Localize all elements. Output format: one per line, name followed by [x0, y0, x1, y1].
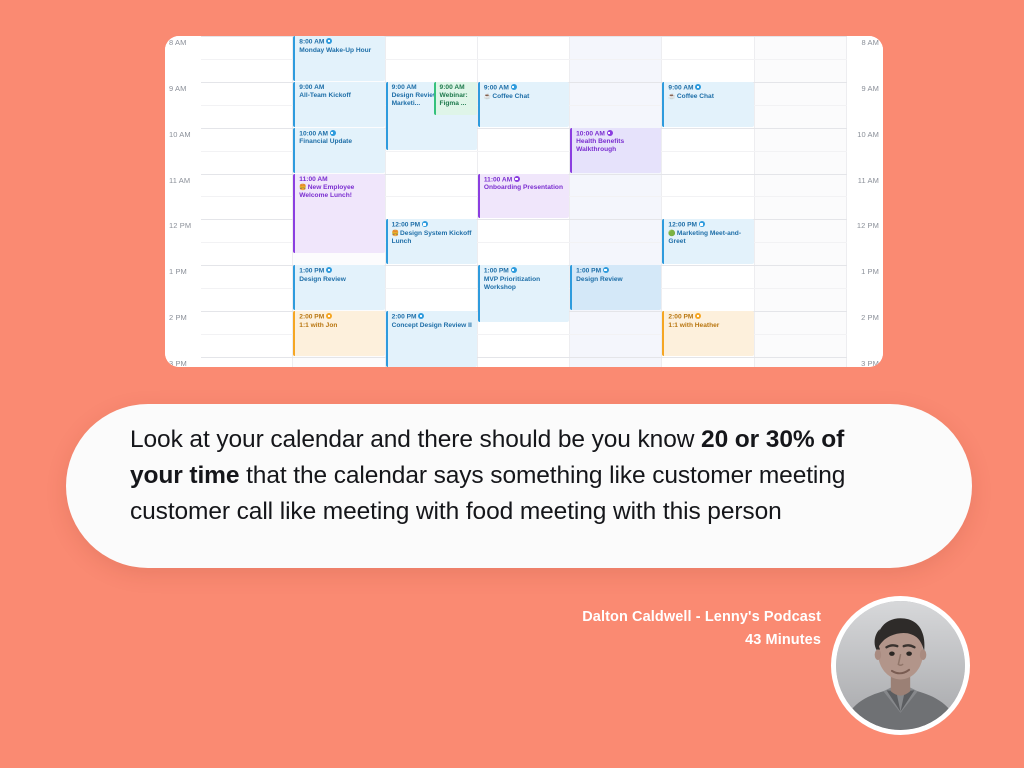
event-title: ☕Coffee Chat: [668, 93, 751, 101]
attribution: Dalton Caldwell - Lenny's Podcast 43 Min…: [481, 606, 821, 652]
event-time: 9:00 AM: [299, 84, 382, 92]
avatar: [831, 596, 970, 735]
time-gutter-right: 8 AM9 AM10 AM11 AM12 PM1 PM2 PM3 PM: [847, 36, 883, 367]
time-label-9-am-right: 9 AM: [862, 84, 880, 93]
video-call-icon: [695, 84, 701, 90]
video-call-icon: [514, 176, 520, 182]
time-label-1-pm-right: 1 PM: [861, 267, 879, 276]
event-time: 12:00 PM: [392, 221, 475, 229]
calendar-event[interactable]: 10:00 AMFinancial Update: [293, 128, 384, 173]
video-call-icon: [699, 221, 705, 227]
time-label-11-am-right: 11 AM: [858, 176, 879, 185]
video-call-icon: [326, 313, 332, 319]
event-title: Design Review: [299, 276, 382, 284]
time-label-12-pm-right: 12 PM: [857, 221, 879, 230]
video-call-icon: [511, 267, 517, 273]
event-time: 2:00 PM: [299, 313, 382, 321]
calendar-event[interactable]: 2:00 PM1:1 with Heather: [662, 311, 753, 356]
event-time: 12:00 PM: [668, 221, 751, 229]
video-call-icon: [418, 313, 424, 319]
quote-segment-0: Look at your calendar and there should b…: [130, 426, 701, 453]
time-label-8-am-left: 8 AM: [169, 38, 187, 47]
event-title: Design Review: [576, 276, 659, 284]
event-time: 1:00 PM: [576, 267, 659, 275]
event-emoji-icon: ☕: [484, 94, 491, 100]
calendar-event[interactable]: 1:00 PMDesign Review: [570, 265, 661, 310]
video-call-icon: [422, 221, 428, 227]
event-title: 🍔New Employee Welcome Lunch!: [299, 184, 382, 200]
portrait-illustration: [836, 601, 965, 730]
event-title: MVP Prioritization Workshop: [484, 276, 567, 292]
event-title: 🟢Marketing Meet-and-Greet: [668, 230, 751, 246]
event-title: Financial Update: [299, 138, 382, 146]
event-title: ☕Coffee Chat: [484, 93, 567, 101]
event-title: 🍔Design System Kickoff Lunch: [392, 230, 475, 246]
event-emoji-icon: ☕: [668, 94, 675, 100]
calendar-event[interactable]: 12:00 PM🟢Marketing Meet-and-Greet: [662, 219, 753, 264]
video-call-icon: [511, 84, 517, 90]
event-emoji-icon: 🍔: [392, 231, 399, 237]
calendar-event[interactable]: 8:00 AMMonday Wake-Up Hour: [293, 36, 384, 81]
calendar-event[interactable]: 9:00 AMAll-Team Kickoff: [293, 82, 384, 127]
event-title: Monday Wake-Up Hour: [299, 47, 382, 55]
event-time: 10:00 AM: [576, 130, 659, 138]
time-label-8-am-right: 8 AM: [862, 38, 880, 47]
event-time: 9:00 AM: [668, 84, 751, 92]
calendar-event[interactable]: 1:00 PMDesign Review: [293, 265, 384, 310]
event-title: Concept Design Review II: [392, 322, 475, 330]
video-call-icon: [326, 38, 332, 44]
calendar-event[interactable]: 9:00 AMWebinar: Figma ...: [434, 82, 477, 115]
quote-text: Look at your calendar and there should b…: [130, 422, 898, 530]
calendar-event[interactable]: 9:00 AM☕Coffee Chat: [478, 82, 569, 127]
calendar-event[interactable]: 11:00 AMOnboarding Presentation: [478, 174, 569, 219]
event-title: Onboarding Presentation: [484, 184, 567, 192]
video-call-icon: [607, 130, 613, 136]
speaker-name: Dalton Caldwell - Lenny's Podcast: [481, 606, 821, 629]
hour-gridline: [201, 357, 847, 358]
calendar-event[interactable]: 2:00 PMConcept Design Review II: [386, 311, 477, 367]
episode-duration: 43 Minutes: [481, 629, 821, 652]
event-emoji-icon: 🍔: [299, 185, 306, 191]
event-time: 1:00 PM: [484, 267, 567, 275]
calendar-day-column-1[interactable]: [201, 36, 293, 367]
event-time: 11:00 AM: [484, 176, 567, 184]
event-time: 2:00 PM: [392, 313, 475, 321]
time-label-10-am-left: 10 AM: [169, 130, 191, 139]
event-time: 9:00 AM: [440, 84, 475, 92]
time-label-3-pm-right: 3 PM: [861, 359, 879, 367]
event-title: 1:1 with Jon: [299, 322, 382, 330]
time-gutter-left: 8 AM9 AM10 AM11 AM12 PM1 PM2 PM3 PM: [165, 36, 201, 367]
calendar-event[interactable]: 1:00 PMMVP Prioritization Workshop: [478, 265, 569, 321]
calendar-event[interactable]: 2:00 PM1:1 with Jon: [293, 311, 384, 356]
calendar-day-column-7[interactable]: [755, 36, 847, 367]
calendar-event[interactable]: 10:00 AMHealth Benefits Walkthrough: [570, 128, 661, 173]
time-label-10-am-right: 10 AM: [857, 130, 879, 139]
event-time: 8:00 AM: [299, 38, 382, 46]
calendar-day-column-5[interactable]: [570, 36, 662, 367]
video-call-icon: [330, 130, 336, 136]
event-time: 11:00 AM: [299, 176, 382, 184]
calendar-event[interactable]: 9:00 AM☕Coffee Chat: [662, 82, 753, 127]
time-label-12-pm-left: 12 PM: [169, 221, 191, 230]
event-title: Health Benefits Walkthrough: [576, 138, 659, 154]
quote-card: Look at your calendar and there should b…: [66, 404, 972, 568]
event-time: 9:00 AM: [484, 84, 567, 92]
event-title: Webinar: Figma ...: [440, 92, 475, 108]
event-time: 1:00 PM: [299, 267, 382, 275]
time-label-9-am-left: 9 AM: [169, 84, 187, 93]
calendar-grid: 8 AM9 AM10 AM11 AM12 PM1 PM2 PM3 PM 8:00…: [165, 36, 883, 367]
time-label-2-pm-right: 2 PM: [861, 313, 879, 322]
avatar-photo: [836, 601, 965, 730]
event-time: 2:00 PM: [668, 313, 751, 321]
calendar-card: 8 AM9 AM10 AM11 AM12 PM1 PM2 PM3 PM 8:00…: [165, 36, 883, 367]
event-title: 1:1 with Heather: [668, 322, 751, 330]
video-call-icon: [695, 313, 701, 319]
event-emoji-icon: 🟢: [668, 231, 675, 237]
calendar-events-area[interactable]: 8:00 AMMonday Wake-Up Hour9:00 AMAll-Tea…: [201, 36, 847, 367]
time-label-11-am-left: 11 AM: [169, 176, 190, 185]
event-title: All-Team Kickoff: [299, 92, 382, 100]
calendar-event[interactable]: 11:00 AM🍔New Employee Welcome Lunch!: [293, 174, 384, 253]
event-time: 10:00 AM: [299, 130, 382, 138]
time-label-2-pm-left: 2 PM: [169, 313, 187, 322]
calendar-event[interactable]: 12:00 PM🍔Design System Kickoff Lunch: [386, 219, 477, 264]
time-label-3-pm-left: 3 PM: [169, 359, 187, 367]
video-call-icon: [603, 267, 609, 273]
video-call-icon: [326, 267, 332, 273]
time-label-1-pm-left: 1 PM: [169, 267, 187, 276]
